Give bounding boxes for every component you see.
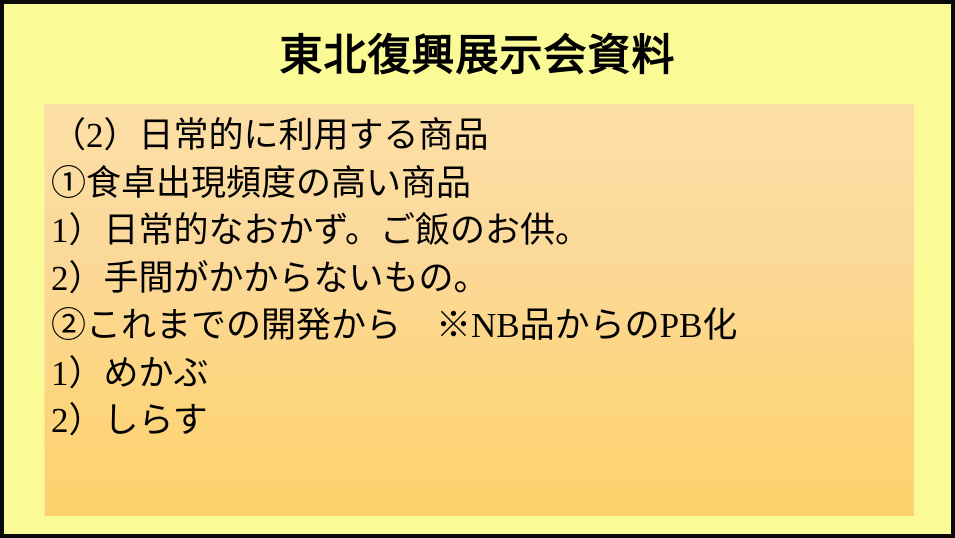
list-item: 2）しらす	[51, 397, 906, 445]
list-item: 1）めかぶ	[51, 350, 906, 398]
presentation-slide: 東北復興展示会資料 （2）日常的に利用する商品 ①食卓出現頻度の高い商品 1）日…	[0, 0, 955, 538]
list-item: 2）手間がかからないもの。	[51, 255, 906, 303]
list-item: （2）日常的に利用する商品	[51, 112, 906, 160]
list-item: ①食卓出現頻度の高い商品	[51, 160, 906, 208]
list-item: ②これまでの開発から ※NB品からのPB化	[51, 302, 906, 350]
content-text-list: （2）日常的に利用する商品 ①食卓出現頻度の高い商品 1）日常的なおかず。ご飯の…	[51, 112, 906, 445]
content-body-box: （2）日常的に利用する商品 ①食卓出現頻度の高い商品 1）日常的なおかず。ご飯の…	[44, 104, 914, 516]
page-title: 東北復興展示会資料	[4, 30, 951, 82]
list-item: 1）日常的なおかず。ご飯のお供。	[51, 207, 906, 255]
